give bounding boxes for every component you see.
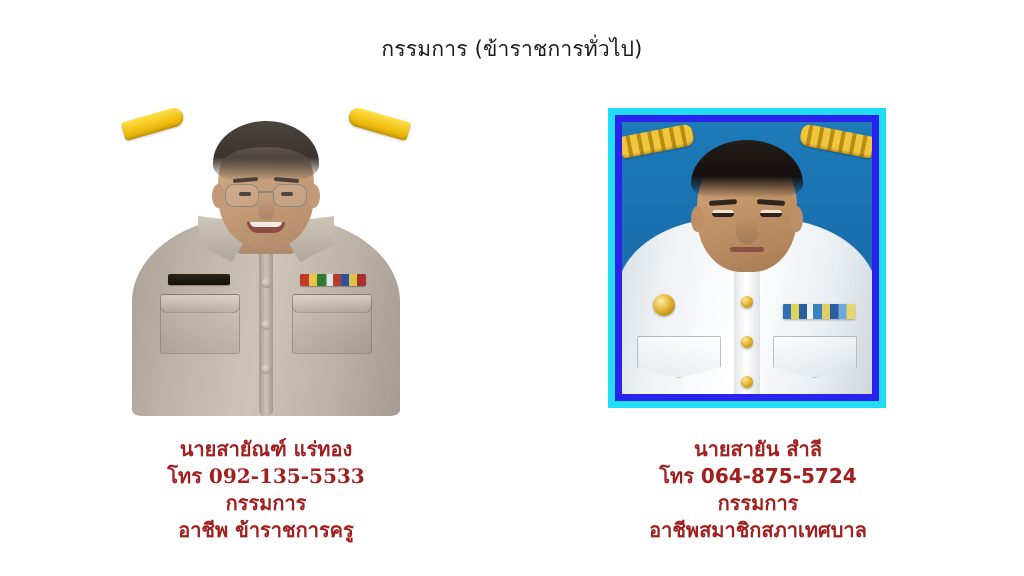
epaulette-right — [799, 123, 872, 159]
nose — [258, 200, 275, 220]
eyebrow-right — [274, 177, 299, 183]
member-name: นายสายัณฑ์ แร่ทอง — [167, 436, 364, 463]
face — [218, 126, 314, 248]
eyebrow-left — [233, 177, 258, 183]
ribbon-bar — [783, 304, 855, 319]
ribbon-bar — [300, 274, 366, 286]
member-position: กรรมการ — [167, 490, 364, 517]
member-occupation: อาชีพ ข้าราชการครู — [167, 517, 364, 544]
jacket-pocket-left — [637, 336, 721, 378]
nose — [736, 218, 758, 244]
member-phone: โทร 092-135-5533 — [167, 463, 364, 490]
eye-right — [760, 210, 782, 217]
shirt-button — [262, 320, 271, 329]
shirt-pocket-left — [160, 294, 240, 354]
jacket-pocket-right — [773, 336, 857, 378]
portrait-photo-khaki-uniform — [116, 108, 416, 416]
glasses-bridge — [258, 191, 274, 193]
ear-left — [691, 206, 704, 232]
shirt-button — [262, 278, 271, 287]
lens-right — [273, 184, 307, 207]
member-list: นายสายัณฑ์ แร่ทอง โทร 092-135-5533 กรรมก… — [0, 108, 1024, 568]
page-title: กรรมการ (ข้าราชการทั่วไป) — [0, 36, 1024, 62]
mouth — [730, 247, 764, 252]
shirt-pocket-right — [292, 294, 372, 354]
lens-left — [225, 184, 259, 207]
eye-left — [712, 210, 734, 217]
member-photo-slot — [608, 108, 908, 420]
face — [697, 148, 797, 272]
chest-medallion — [653, 294, 675, 316]
jacket-button — [741, 376, 753, 388]
member-phone: โทร 064-875-5724 — [649, 463, 867, 490]
photo-frame-inner-blue — [615, 115, 879, 401]
member-caption: นายสายัน สำลี โทร 064-875-5724 กรรมการ อ… — [649, 436, 867, 544]
member-occupation: อาชีพสมาชิกสภาเทศบาล — [649, 517, 867, 544]
member-card: นายสายัณฑ์ แร่ทอง โทร 092-135-5533 กรรมก… — [40, 108, 492, 544]
jacket-button — [741, 336, 753, 348]
member-photo-slot — [116, 108, 416, 420]
ear-right — [307, 184, 320, 208]
name-tag — [168, 274, 230, 285]
member-card: นายสายัน สำลี โทร 064-875-5724 กรรมการ อ… — [532, 108, 984, 544]
portrait-photo-white-uniform — [622, 122, 872, 394]
epaulette-left — [121, 108, 186, 141]
photo-frame-outer-cyan — [608, 108, 886, 408]
epaulette-right — [347, 108, 412, 141]
member-name: นายสายัน สำลี — [649, 436, 867, 463]
shirt-button — [262, 364, 271, 373]
mouth — [247, 222, 285, 233]
ear-right — [790, 206, 803, 232]
epaulette-left — [622, 123, 695, 159]
teeth — [250, 222, 282, 227]
eyebrow-left — [709, 199, 737, 206]
jacket-button — [741, 296, 753, 308]
member-position: กรรมการ — [649, 490, 867, 517]
hair — [213, 121, 319, 181]
hair — [691, 140, 803, 198]
member-caption: นายสายัณฑ์ แร่ทอง โทร 092-135-5533 กรรมก… — [167, 436, 364, 544]
eyebrow-right — [757, 199, 785, 206]
